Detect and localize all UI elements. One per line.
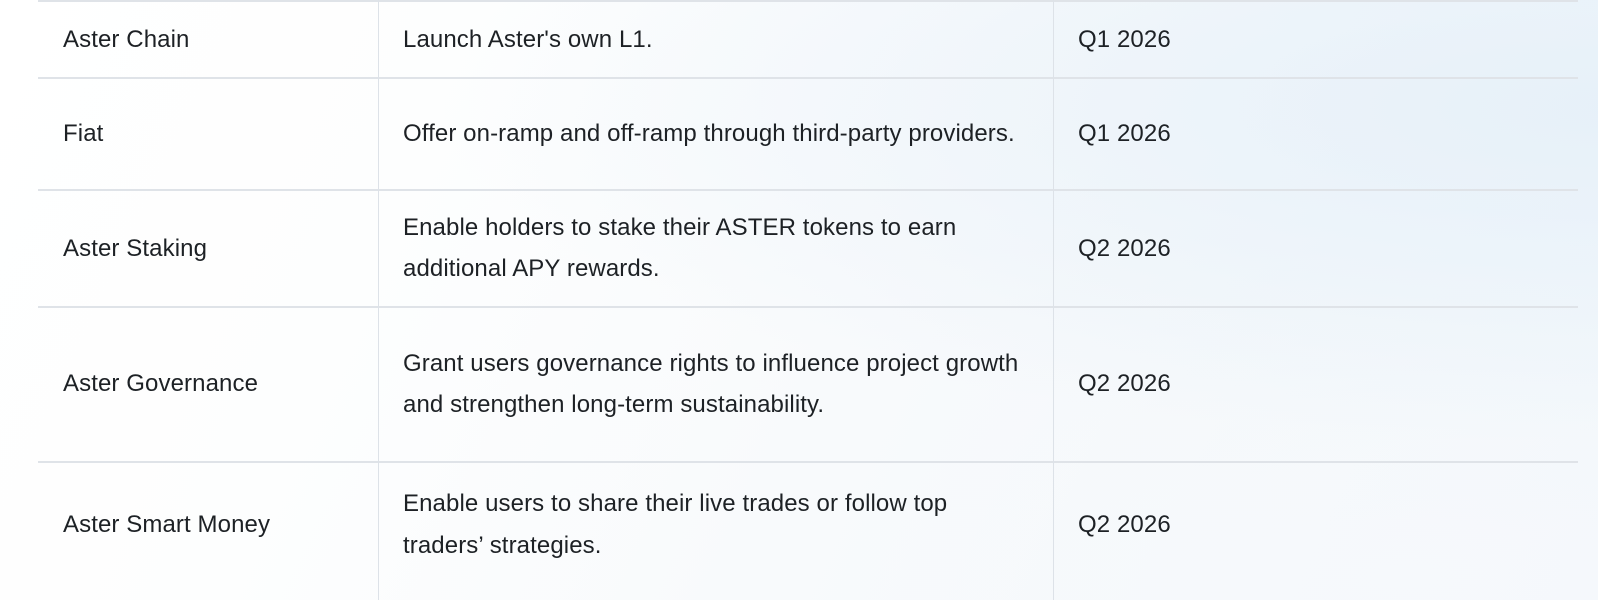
roadmap-table-wrapper: Aster Chain Launch Aster's own L1. Q1 20… xyxy=(0,0,1598,587)
table-cell-description: Grant users governance rights to influen… xyxy=(378,307,1053,462)
table-cell-timeline: Q1 2026 xyxy=(1053,1,1578,78)
feature-description: Enable users to share their live trades … xyxy=(378,467,1053,582)
feature-timeline: Q2 2026 xyxy=(1053,212,1578,285)
table-row: Aster Chain Launch Aster's own L1. Q1 20… xyxy=(38,1,1578,78)
feature-timeline: Q2 2026 xyxy=(1053,347,1578,420)
feature-name: Fiat xyxy=(38,97,378,170)
table-cell-timeline: Q1 2026 xyxy=(1053,78,1578,190)
table-cell-description: Enable users to share their live trades … xyxy=(378,462,1053,587)
table-cell-timeline: Q2 2026 xyxy=(1053,307,1578,462)
table-row: Aster Staking Enable holders to stake th… xyxy=(38,190,1578,307)
table-cell-feature: Aster Smart Money xyxy=(38,462,378,587)
feature-timeline: Q1 2026 xyxy=(1053,3,1578,76)
table-cell-timeline: Q2 2026 xyxy=(1053,190,1578,307)
table-cell-feature: Aster Chain xyxy=(38,1,378,78)
table-row: Fiat Offer on-ramp and off-ramp through … xyxy=(38,78,1578,190)
feature-timeline: Q1 2026 xyxy=(1053,97,1578,170)
page-canvas: Aster Chain Launch Aster's own L1. Q1 20… xyxy=(0,0,1598,600)
feature-name: Aster Smart Money xyxy=(38,488,378,561)
table-row: Aster Governance Grant users governance … xyxy=(38,307,1578,462)
table-row: Aster Smart Money Enable users to share … xyxy=(38,462,1578,587)
table-cell-feature: Fiat xyxy=(38,78,378,190)
roadmap-table-body: Aster Chain Launch Aster's own L1. Q1 20… xyxy=(38,1,1578,587)
table-cell-description: Offer on-ramp and off-ramp through third… xyxy=(378,78,1053,190)
feature-name: Aster Governance xyxy=(38,347,378,420)
feature-timeline: Q2 2026 xyxy=(1053,488,1578,561)
feature-description: Enable holders to stake their ASTER toke… xyxy=(378,191,1053,306)
feature-description: Launch Aster's own L1. xyxy=(378,3,1053,76)
table-cell-timeline: Q2 2026 xyxy=(1053,462,1578,587)
table-cell-description: Launch Aster's own L1. xyxy=(378,1,1053,78)
feature-name: Aster Chain xyxy=(38,3,378,76)
roadmap-table: Aster Chain Launch Aster's own L1. Q1 20… xyxy=(38,0,1578,587)
feature-description: Offer on-ramp and off-ramp through third… xyxy=(378,97,1053,170)
feature-description: Grant users governance rights to influen… xyxy=(378,327,1053,442)
feature-name: Aster Staking xyxy=(38,212,378,285)
table-cell-feature: Aster Governance xyxy=(38,307,378,462)
table-cell-description: Enable holders to stake their ASTER toke… xyxy=(378,190,1053,307)
table-cell-feature: Aster Staking xyxy=(38,190,378,307)
